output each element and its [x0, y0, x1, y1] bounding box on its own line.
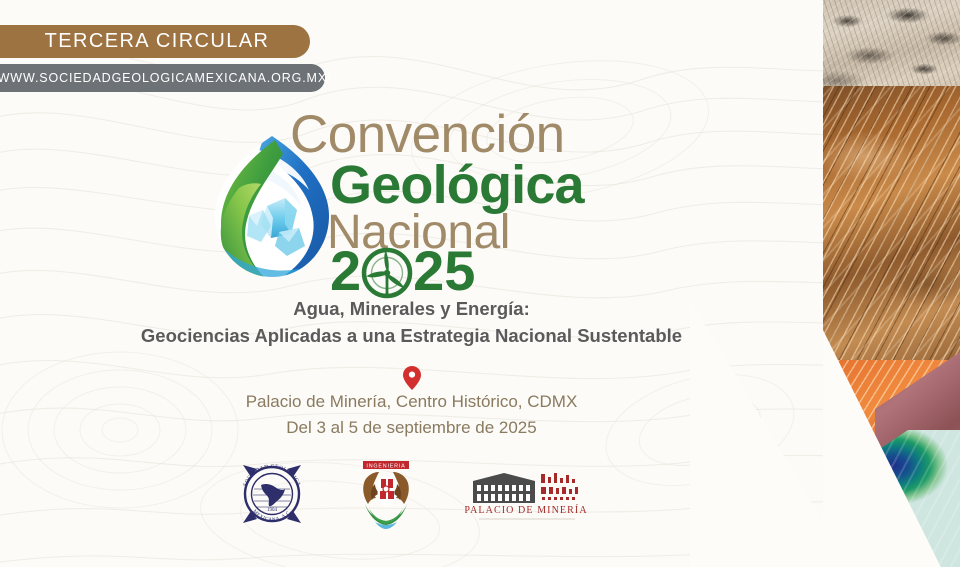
photo-desert-gravel-aerial — [823, 0, 960, 96]
venue-dates: Del 3 al 5 de septiembre de 2025 — [0, 415, 823, 441]
photo-collage — [823, 0, 960, 567]
year-digits-25: 25 — [413, 238, 475, 303]
logo-strip: SOCIEDAD GEOLÓGICA MEXICANA, A.C. 1904 I… — [0, 458, 823, 530]
conference-poster: TERCERA CIRCULAR WWW.SOCIEDADGEOLOGICAME… — [0, 0, 960, 567]
palacio-de-mineria-building-icon: PALACIO DE MINERÍA — [465, 465, 587, 523]
photo-eroded-badlands-ridges — [823, 86, 960, 406]
tercera-circular-banner: TERCERA CIRCULAR — [0, 25, 310, 58]
website-banner[interactable]: WWW.SOCIEDADGEOLOGICAMEXICANA.ORG.MX/ — [0, 64, 325, 92]
unam-ingenieria-shield-icon: INGENIERIA — [353, 458, 419, 530]
year-digit-2: 2 — [330, 238, 361, 303]
wind-turbine-icon — [361, 245, 413, 301]
title-year: 2 25 — [330, 238, 475, 303]
svg-text:INGENIERIA: INGENIERIA — [366, 463, 405, 469]
sociedad-geologica-mexicana-seal-icon: SOCIEDAD GEOLÓGICA MEXICANA, A.C. 1904 — [237, 459, 307, 529]
subtitle-line-2: Geociencias Aplicadas a una Estrategia N… — [0, 323, 823, 350]
venue-place: Palacio de Minería, Centro Histórico, CD… — [0, 389, 823, 415]
map-pin-icon — [403, 366, 421, 390]
venue-info: Palacio de Minería, Centro Histórico, CD… — [0, 389, 823, 440]
tercera-circular-label: TERCERA CIRCULAR — [45, 30, 270, 53]
subtitle-line-1: Agua, Minerales y Energía: — [0, 296, 823, 323]
palacio-de-mineria-label: PALACIO DE MINERÍA — [465, 504, 587, 516]
svg-text:1904: 1904 — [267, 508, 278, 513]
subtitle: Agua, Minerales y Energía: Geociencias A… — [0, 296, 823, 349]
website-label: WWW.SOCIEDADGEOLOGICAMEXICANA.ORG.MX/ — [0, 71, 331, 85]
